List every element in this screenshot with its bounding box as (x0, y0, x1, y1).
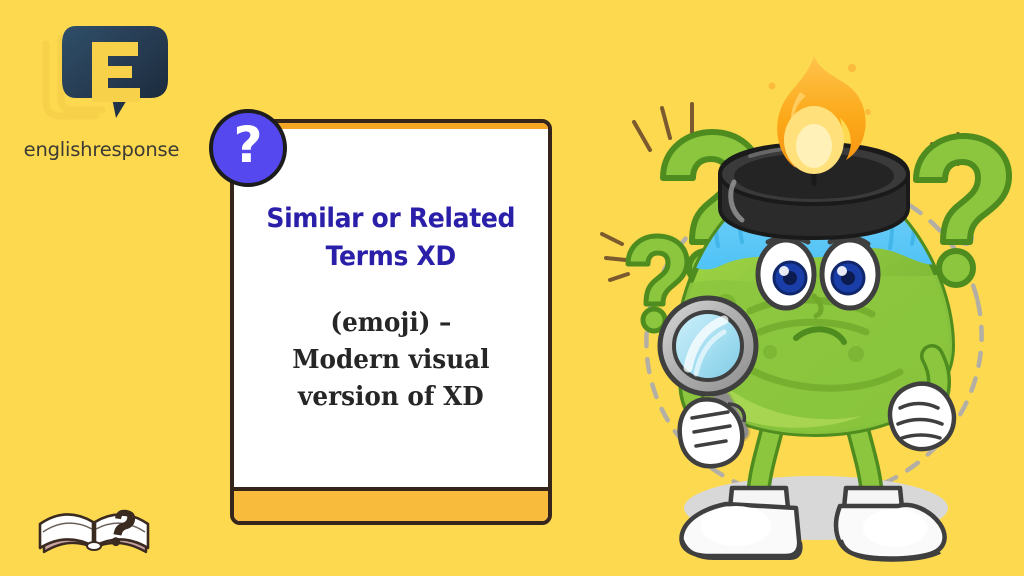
brand-wordmark: englishresponse (14, 138, 189, 161)
card-footer-strip (234, 487, 548, 521)
card-subtitle: (emoji) – Modern visual version of XD (292, 305, 489, 416)
brand-logo[interactable]: englishresponse (14, 18, 189, 178)
mascot-right-glove (890, 384, 954, 449)
poster-canvas: englishresponse Similar or Related Terms… (0, 0, 1024, 576)
confused-earth-candle-mascot (600, 56, 1024, 576)
question-mark-badge-icon: ? (209, 109, 287, 187)
card-subtitle-line-2: Modern visual (292, 345, 489, 375)
spark-lines-lower-left (602, 234, 628, 280)
card-title-line-1: Similar or Related (267, 203, 516, 234)
card-title-line-2: Terms XD (326, 241, 456, 272)
info-card: Similar or Related Terms XD (emoji) – Mo… (230, 119, 552, 525)
open-book-with-question-mark-icon (30, 482, 160, 564)
card-title: Similar or Related Terms XD (267, 200, 516, 275)
card-subtitle-line-1: (emoji) – (331, 308, 452, 338)
card-subtitle-line-3: version of XD (298, 382, 484, 412)
englishresponse-logo-icon (32, 18, 177, 130)
card-body: Similar or Related Terms XD (emoji) – Mo… (234, 129, 548, 487)
